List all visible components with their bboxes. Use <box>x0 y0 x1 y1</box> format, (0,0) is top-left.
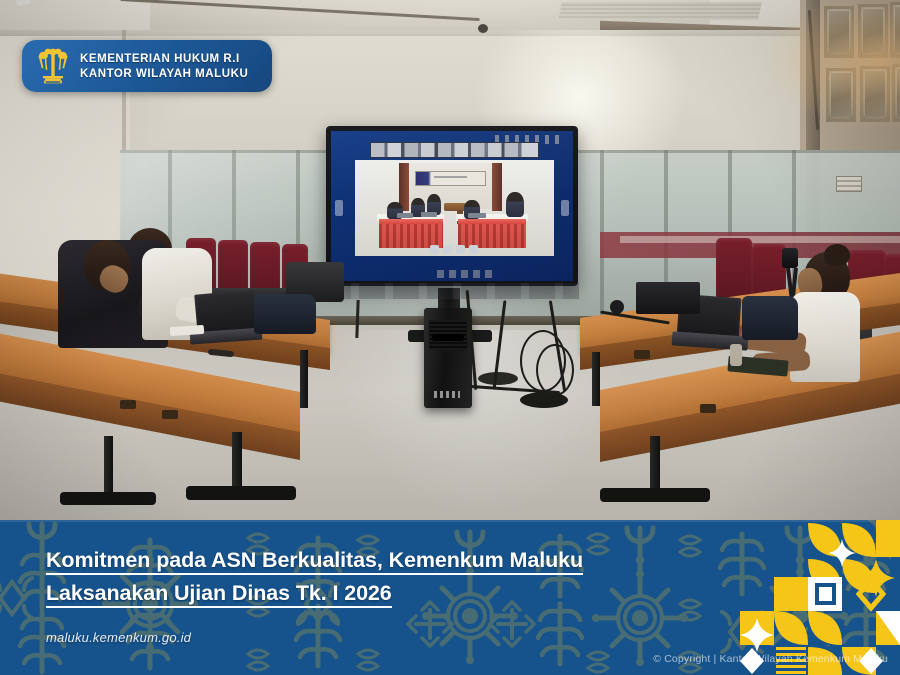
framed-portraits <box>860 66 890 122</box>
badge-line-1: KEMENTERIAN HUKUM R.I <box>80 53 248 65</box>
video-call-thumbnail-strip <box>370 142 539 159</box>
table-foot <box>60 492 156 505</box>
vc-footer-logo <box>437 270 497 278</box>
cable-grommet <box>634 350 650 359</box>
vc-participant <box>506 192 524 217</box>
table-leg <box>300 350 308 408</box>
ministry-badge: KEMENTERIAN HUKUM R.I KANTOR WILAYAH MAL… <box>22 40 272 92</box>
screenshot-root: KEMENTERIAN HUKUM R.I KANTOR WILAYAH MAL… <box>0 0 900 675</box>
headline-line-2: Laksanakan Ujian Dinas Tk. I 2026 <box>46 581 392 608</box>
framed-portraits <box>892 64 900 122</box>
vc-nav-left-icon <box>335 200 343 216</box>
laptop-bag <box>254 294 316 334</box>
vc-nav-right-icon <box>561 200 569 216</box>
framed-portraits <box>826 68 856 122</box>
camera-bag <box>742 296 798 340</box>
copyright-notice: © Copyright | Kantor Wilayah Kemenkum Ma… <box>653 653 888 665</box>
conduit-fitting <box>478 24 488 33</box>
badge-line-2: KANTOR WILAYAH MALUKU <box>80 68 248 80</box>
vc-laptop <box>468 213 486 218</box>
mic-stand-base <box>478 372 518 385</box>
ceiling-vent <box>558 2 762 20</box>
framed-portraits <box>890 2 900 58</box>
vc-participants-icon <box>469 245 478 254</box>
bottle <box>730 344 742 366</box>
framed-portraits <box>858 4 888 58</box>
vc-curtain-right <box>492 163 502 211</box>
conference-display <box>326 126 578 286</box>
desk-monitor <box>636 282 700 314</box>
speaker-logo <box>434 391 460 398</box>
framed-portraits <box>824 6 854 58</box>
vc-share-icon <box>456 245 465 254</box>
tv-bottom-edge <box>325 283 579 299</box>
pa-speaker <box>424 308 472 408</box>
stacked-chairs <box>218 240 248 294</box>
headline: Komitmen pada ASN Berkualitas, Kemenkum … <box>46 544 666 609</box>
cable-grommet <box>120 400 136 409</box>
camera-head <box>782 248 798 268</box>
vc-laptop <box>421 212 437 217</box>
vc-camera-icon <box>443 245 452 254</box>
badge-text-block: KEMENTERIAN HUKUM R.I KANTOR WILAYAH MAL… <box>80 53 248 80</box>
wall-red-band-highlight <box>620 236 900 243</box>
stacked-chairs <box>716 238 752 300</box>
table-leg <box>592 352 600 406</box>
pengayoman-banyan-tree-icon <box>36 47 70 85</box>
site-url[interactable]: maluku.kemenkum.go.id <box>46 630 191 645</box>
vc-control-bar <box>427 246 483 253</box>
table-foot <box>600 488 710 502</box>
headline-line-1: Komitmen pada ASN Berkualitas, Kemenkum … <box>46 548 583 575</box>
cable-grommet <box>700 404 716 413</box>
wall-switch-plate <box>836 176 862 192</box>
table-foot <box>186 486 296 500</box>
tv-screen <box>331 131 573 281</box>
person-hair-bun <box>824 244 850 266</box>
table-leg <box>104 436 113 500</box>
cable-loop <box>536 344 574 396</box>
news-banner: Komitmen pada ASN Berkualitas, Kemenkum … <box>0 520 900 675</box>
vc-stage-banner <box>415 171 486 186</box>
vc-red-table-left <box>379 219 443 248</box>
speaker-handle <box>432 334 464 341</box>
vc-red-table-right <box>458 219 525 248</box>
cable-grommet <box>162 410 178 419</box>
vc-mic-icon <box>430 245 439 254</box>
video-call-main-view <box>355 160 553 256</box>
vc-laptop <box>397 213 413 218</box>
geometric-floral-corner-motif <box>690 520 900 675</box>
